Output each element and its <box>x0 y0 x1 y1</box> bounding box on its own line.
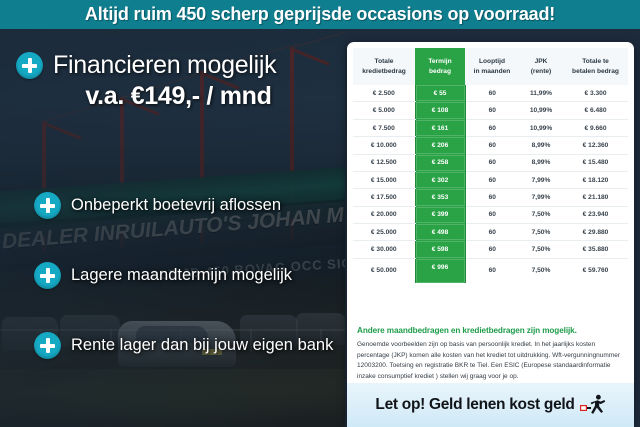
bullet-label: Rente lager dan bij jouw eigen bank <box>71 336 333 355</box>
table-row: € 25.000€ 498607,50%€ 29.880 <box>353 224 628 241</box>
td-totaalbedrag: € 15.480 <box>563 154 628 171</box>
table-row: € 20.000€ 399607,50%€ 23.940 <box>353 206 628 223</box>
credit-table-wrapper: Totale kredietbedrag Termijn bedrag Loop… <box>353 48 628 283</box>
td-jkp: 8,99% <box>519 154 563 171</box>
running-man-icon <box>580 394 606 416</box>
bullet-item-3: Rente lager dan bij jouw eigen bank <box>34 332 333 359</box>
td-looptijd: 60 <box>465 119 519 136</box>
td-kredietbedrag: € 20.000 <box>353 206 415 223</box>
td-jkp: 7,99% <box>519 171 563 188</box>
table-row: € 7.500€ 1616010,99%€ 9.660 <box>353 119 628 136</box>
th-line-2: betalen bedrag <box>565 67 626 77</box>
plus-icon <box>34 192 61 219</box>
th-totale-kredietbedrag: Totale kredietbedrag <box>353 48 415 85</box>
table-header-row: Totale kredietbedrag Termijn bedrag Loop… <box>353 48 628 85</box>
td-looptijd: 60 <box>465 241 519 258</box>
td-termijnbedrag: € 302 <box>415 171 465 188</box>
td-looptijd: 60 <box>465 171 519 188</box>
th-totale-te-betalen: Totale te betalen bedrag <box>563 48 628 85</box>
td-termijnbedrag: € 55 <box>415 85 465 102</box>
td-jkp: 11,99% <box>519 85 563 102</box>
td-jkp: 7,50% <box>519 241 563 258</box>
th-line-2: (rente) <box>521 67 561 77</box>
td-termijnbedrag: € 258 <box>415 154 465 171</box>
bullet-item-1: Onbeperkt boetevrij aflossen <box>34 192 281 219</box>
td-jkp: 10,99% <box>519 102 563 119</box>
bullet-item-2: Lagere maandtermijn mogelijk <box>34 262 292 289</box>
table-row: € 2.500€ 556011,99%€ 3.300 <box>353 85 628 102</box>
loan-warning-bar: Let op! Geld lenen kost geld <box>347 383 634 427</box>
table-row: € 5.000€ 1086010,99%€ 6.480 <box>353 102 628 119</box>
td-totaalbedrag: € 18.120 <box>563 171 628 188</box>
bullet-label: Onbeperkt boetevrij aflossen <box>71 196 281 215</box>
credit-table: Totale kredietbedrag Termijn bedrag Loop… <box>353 48 628 283</box>
td-termijnbedrag: € 498 <box>415 224 465 241</box>
headline-line-1: Financieren mogelijk <box>53 51 276 80</box>
warning-text: Let op! Geld lenen kost geld <box>375 396 574 414</box>
th-line-1: Totale <box>355 57 413 67</box>
td-jkp: 7,50% <box>519 258 563 282</box>
td-looptijd: 60 <box>465 189 519 206</box>
credit-promo-banner: DEALER INRUILAUTO'S JOHAN MEURE ALTIJD 4… <box>0 0 640 427</box>
promo-bullet-list: Financieren mogelijk v.a. €149,- / mnd O… <box>0 29 345 427</box>
th-line-1: Totale te <box>565 57 626 67</box>
card-footnote: Andere maandbedragen en kredietbedragen … <box>347 316 634 382</box>
td-jkp: 10,99% <box>519 119 563 136</box>
th-jkp: JPK (rente) <box>519 48 563 85</box>
table-row: € 15.000€ 302607,99%€ 18.120 <box>353 171 628 188</box>
td-totaalbedrag: € 6.480 <box>563 102 628 119</box>
td-kredietbedrag: € 7.500 <box>353 119 415 136</box>
footnote-body: Genoemde voorbeelden zijn op basis van p… <box>357 340 624 382</box>
table-row: € 10.000€ 206608,99%€ 12.360 <box>353 137 628 154</box>
plus-icon <box>16 52 43 79</box>
td-totaalbedrag: € 23.940 <box>563 206 628 223</box>
table-row: € 17.500€ 353607,99%€ 21.180 <box>353 189 628 206</box>
td-termijnbedrag: € 353 <box>415 189 465 206</box>
td-kredietbedrag: € 17.500 <box>353 189 415 206</box>
financing-headline: Financieren mogelijk v.a. €149,- / mnd <box>16 51 341 111</box>
bullet-label: Lagere maandtermijn mogelijk <box>71 266 292 285</box>
header-title: Altijd ruim 450 scherp geprijsde occasio… <box>85 4 555 25</box>
th-line-1: JPK <box>521 57 561 67</box>
td-jkp: 7,50% <box>519 206 563 223</box>
td-looptijd: 60 <box>465 224 519 241</box>
td-totaalbedrag: € 59.760 <box>563 258 628 282</box>
th-termijn-bedrag: Termijn bedrag <box>415 48 465 85</box>
td-totaalbedrag: € 12.360 <box>563 137 628 154</box>
table-row: € 30.000€ 598607,50%€ 35.880 <box>353 241 628 258</box>
top-header-bar: Altijd ruim 450 scherp geprijsde occasio… <box>0 0 640 29</box>
td-kredietbedrag: € 50.000 <box>353 258 415 282</box>
td-totaalbedrag: € 3.300 <box>563 85 628 102</box>
th-looptijd: Looptijd in maanden <box>465 48 519 85</box>
headline-line-2: v.a. €149,- / mnd <box>16 82 341 111</box>
plus-icon <box>34 262 61 289</box>
td-kredietbedrag: € 15.000 <box>353 171 415 188</box>
td-kredietbedrag: € 12.500 <box>353 154 415 171</box>
credit-table-card: Totale kredietbedrag Termijn bedrag Loop… <box>347 42 634 427</box>
td-termijnbedrag: € 108 <box>415 102 465 119</box>
footnote-heading: Andere maandbedragen en kredietbedragen … <box>357 326 624 335</box>
th-line-2: kredietbedrag <box>355 67 413 77</box>
td-termijnbedrag: € 206 <box>415 137 465 154</box>
th-line-2: bedrag <box>417 67 463 77</box>
th-line-1: Looptijd <box>467 57 517 67</box>
td-looptijd: 60 <box>465 154 519 171</box>
td-jkp: 8,99% <box>519 137 563 154</box>
table-row: € 12.500€ 258608,99%€ 15.480 <box>353 154 628 171</box>
td-looptijd: 60 <box>465 206 519 223</box>
td-jkp: 7,50% <box>519 224 563 241</box>
td-jkp: 7,99% <box>519 189 563 206</box>
td-termijnbedrag: € 399 <box>415 206 465 223</box>
td-kredietbedrag: € 10.000 <box>353 137 415 154</box>
td-looptijd: 60 <box>465 102 519 119</box>
td-termijnbedrag: € 996 <box>415 258 465 282</box>
td-termijnbedrag: € 598 <box>415 241 465 258</box>
th-line-1: Termijn <box>417 57 463 67</box>
td-kredietbedrag: € 2.500 <box>353 85 415 102</box>
td-kredietbedrag: € 30.000 <box>353 241 415 258</box>
td-totaalbedrag: € 35.880 <box>563 241 628 258</box>
td-totaalbedrag: € 29.880 <box>563 224 628 241</box>
credit-table-body: € 2.500€ 556011,99%€ 3.300€ 5.000€ 10860… <box>353 85 628 282</box>
td-totaalbedrag: € 21.180 <box>563 189 628 206</box>
td-kredietbedrag: € 25.000 <box>353 224 415 241</box>
td-kredietbedrag: € 5.000 <box>353 102 415 119</box>
th-line-2: in maanden <box>467 67 517 77</box>
td-looptijd: 60 <box>465 85 519 102</box>
td-looptijd: 60 <box>465 258 519 282</box>
td-termijnbedrag: € 161 <box>415 119 465 136</box>
td-looptijd: 60 <box>465 137 519 154</box>
td-totaalbedrag: € 9.660 <box>563 119 628 136</box>
table-row: € 50.000€ 996607,50%€ 59.760 <box>353 258 628 282</box>
plus-icon <box>34 332 61 359</box>
